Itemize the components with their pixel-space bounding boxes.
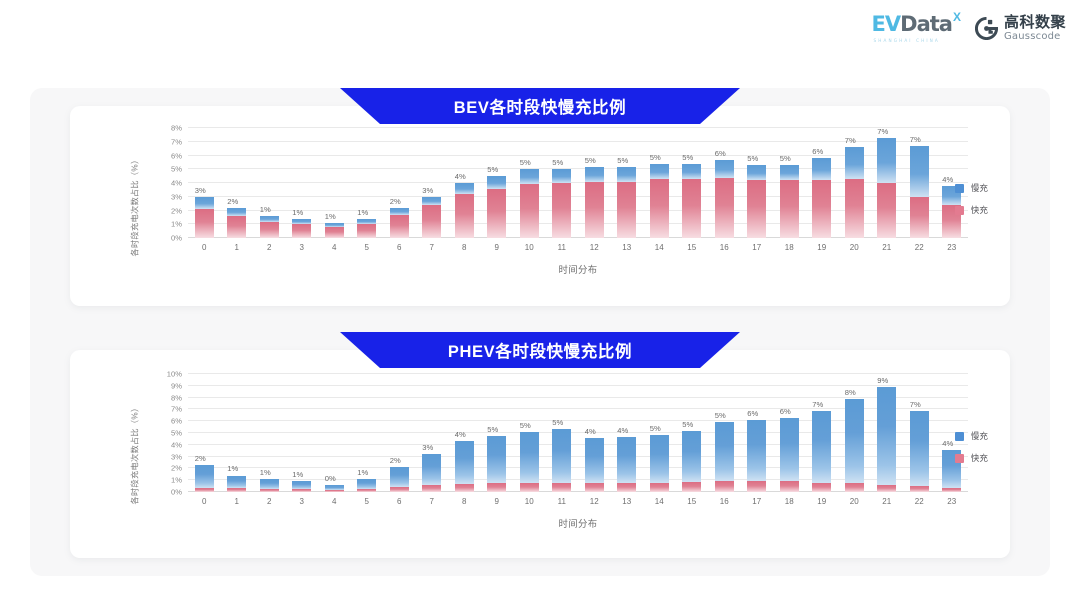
phev-bar-value-label: 7% [910, 400, 921, 409]
phev-y-tick-label: 1% [171, 476, 182, 485]
bev-x-tick-label: 21 [882, 243, 891, 252]
bev-bar-segment-slow[interactable] [617, 167, 636, 182]
bev-stacked-bar[interactable]: 3% [195, 197, 214, 238]
gausscode-logo: 高科数聚 Gausscode [975, 15, 1066, 42]
bev-legend-item[interactable]: 快充 [955, 204, 988, 216]
phev-bar-segment-fast[interactable] [487, 483, 506, 492]
bev-stacked-bar[interactable]: 5% [520, 169, 539, 238]
bev-bar-slot[interactable]: 7%20 [838, 128, 871, 238]
phev-bar-value-label: 8% [845, 388, 856, 397]
phev-bar-value-label: 5% [715, 411, 726, 420]
bev-bar-slot[interactable]: 1%4 [318, 128, 351, 238]
phev-legend-label: 慢充 [971, 430, 988, 442]
phev-bar-value-label: 2% [195, 454, 206, 463]
bev-bar-value-label: 6% [715, 149, 726, 158]
phev-plot-area: 0%1%2%3%4%5%6%7%8%9%10%2%01%11%21%30%41%… [188, 374, 968, 492]
bev-bar-segment-fast[interactable] [292, 224, 311, 238]
phev-chart-section: PHEV各时段快慢充比例 各时段充电次数占比（%） 0%1%2%3%4%5%6%… [30, 332, 1050, 576]
bev-bar-value-label: 6% [812, 147, 823, 156]
evdata-subtitle: SHANGHAI CHINA [874, 38, 940, 43]
bev-x-tick-label: 12 [590, 243, 599, 252]
phev-stacked-bar[interactable]: 6% [747, 420, 766, 492]
bev-bar-slot[interactable]: 5%17 [741, 128, 774, 238]
bev-bar-segment-fast[interactable] [357, 224, 376, 238]
bev-bar-segment-slow[interactable] [390, 208, 409, 215]
bev-bar-slot[interactable]: 5%12 [578, 128, 611, 238]
phev-bar-value-label: 1% [227, 464, 238, 473]
bev-bar-segment-slow[interactable] [682, 164, 701, 179]
bev-bar-slot[interactable]: 3%7 [416, 128, 449, 238]
bev-bar-slot[interactable]: 5%9 [481, 128, 514, 238]
bev-legend-swatch [955, 206, 964, 215]
phev-bar-segment-fast[interactable] [942, 488, 961, 492]
phev-bar-slot[interactable]: 5%9 [481, 374, 514, 492]
phev-bar-segment-fast[interactable] [585, 483, 604, 492]
phev-bar-value-label: 4% [455, 430, 466, 439]
bev-bar-slot[interactable]: 4%8 [448, 128, 481, 238]
bev-bar-slot[interactable]: 5%10 [513, 128, 546, 238]
bev-y-tick-label: 1% [171, 220, 182, 229]
bev-bar-segment-fast[interactable] [715, 178, 734, 239]
phev-bar-segment-slow[interactable] [845, 399, 864, 483]
bev-x-tick-label: 14 [655, 243, 664, 252]
bev-stacked-bar[interactable]: 5% [682, 164, 701, 238]
bev-bar-segment-fast[interactable] [422, 205, 441, 238]
phev-stacked-bar[interactable]: 6% [780, 418, 799, 492]
phev-bar-segment-fast[interactable] [292, 489, 311, 492]
bev-bar-slot[interactable]: 1%3 [286, 128, 319, 238]
phev-bar-segment-slow[interactable] [552, 429, 571, 482]
phev-x-tick-label: 4 [332, 497, 336, 506]
phev-bar-segment-slow[interactable] [292, 481, 311, 489]
phev-bar-segment-slow[interactable] [487, 436, 506, 483]
bev-x-axis-title: 时间分布 [188, 262, 968, 276]
phev-bar-segment-fast[interactable] [357, 489, 376, 492]
phev-y-tick-label: 2% [171, 464, 182, 473]
bev-x-tick-label: 10 [525, 243, 534, 252]
bev-x-tick-label: 18 [785, 243, 794, 252]
bev-stacked-bar[interactable]: 7% [910, 146, 929, 238]
bev-x-tick-label: 22 [915, 243, 924, 252]
bev-bar-segment-slow[interactable] [227, 208, 246, 216]
bev-bar-slot[interactable]: 3%0 [188, 128, 221, 238]
bev-bar-segment-slow[interactable] [877, 138, 896, 183]
phev-stacked-bar[interactable]: 5% [650, 435, 669, 492]
logo-bar: EVData X SHANGHAI CHINA 高科数聚 Gausscode [872, 14, 1066, 43]
phev-bar-segment-slow[interactable] [455, 441, 474, 483]
phev-x-tick-label: 17 [752, 497, 761, 506]
bev-bar-slot[interactable]: 2%6 [383, 128, 416, 238]
bev-x-tick-label: 23 [947, 243, 956, 252]
bev-bar-segment-slow[interactable] [487, 176, 506, 188]
phev-bar-segment-fast[interactable] [195, 488, 214, 492]
bev-stacked-bar[interactable]: 7% [877, 138, 896, 238]
bev-stacked-bar[interactable]: 2% [390, 208, 409, 238]
phev-bar-segment-slow[interactable] [227, 476, 246, 489]
bev-bar-value-label: 2% [227, 197, 238, 206]
charts-outer-panel: BEV各时段快慢充比例 各时段充电次数占比（%） 0%1%2%3%4%5%6%7… [30, 88, 1050, 576]
phev-bar-slot[interactable]: 4%13 [611, 374, 644, 492]
phev-x-tick-label: 12 [590, 497, 599, 506]
bev-bar-slot[interactable]: 7%22 [903, 128, 936, 238]
phev-bar-segment-fast[interactable] [910, 486, 929, 492]
evdata-superscript-x: X [953, 11, 961, 23]
bev-bar-slot[interactable]: 6%19 [806, 128, 839, 238]
bev-chart: 各时段充电次数占比（%） 0%1%2%3%4%5%6%7%8%3%02%11%2… [70, 106, 1010, 306]
bev-bar-value-label: 1% [325, 212, 336, 221]
bev-stacked-bar[interactable]: 1% [260, 216, 279, 238]
bev-legend: 慢充快充 [955, 182, 988, 216]
bev-bar-segment-fast[interactable] [227, 216, 246, 238]
bev-stacked-bar[interactable]: 5% [747, 165, 766, 238]
phev-stacked-bar[interactable]: 4% [455, 441, 474, 492]
bev-stacked-bar[interactable]: 5% [487, 176, 506, 238]
bev-bar-segment-slow[interactable] [195, 197, 214, 209]
phev-bar-slot[interactable]: 1%2 [253, 374, 286, 492]
bev-bar-slot[interactable]: 7%21 [871, 128, 904, 238]
phev-bar-slot[interactable]: 6%17 [741, 374, 774, 492]
bev-x-tick-label: 0 [202, 243, 206, 252]
phev-bar-value-label: 4% [942, 439, 953, 448]
phev-bar-segment-fast[interactable] [682, 482, 701, 492]
bev-bar-value-label: 7% [910, 135, 921, 144]
phev-stacked-bar[interactable]: 1% [357, 479, 376, 492]
bev-bar-segment-fast[interactable] [877, 183, 896, 238]
bev-legend-swatch [955, 184, 964, 193]
phev-stacked-bar[interactable]: 1% [292, 481, 311, 492]
bev-bar-segment-slow[interactable] [552, 169, 571, 183]
phev-bar-slot[interactable]: 4%12 [578, 374, 611, 492]
bev-bar-segment-fast[interactable] [260, 222, 279, 239]
bev-stacked-bar[interactable]: 3% [422, 197, 441, 238]
phev-bar-segment-slow[interactable] [877, 387, 896, 485]
evdata-logo: EVData X SHANGHAI CHINA [872, 14, 961, 43]
bev-bar-segment-fast[interactable] [910, 197, 929, 238]
phev-bar-slot[interactable]: 8%20 [838, 374, 871, 492]
phev-bar-segment-fast[interactable] [325, 490, 344, 492]
bev-stacked-bar[interactable]: 1% [325, 223, 344, 238]
phev-y-tick-label: 10% [167, 370, 182, 379]
bev-x-tick-label: 15 [687, 243, 696, 252]
bev-stacked-bar[interactable]: 5% [617, 167, 636, 239]
phev-bar-segment-fast[interactable] [650, 483, 669, 492]
bev-bar-value-label: 5% [552, 158, 563, 167]
phev-bar-segment-slow[interactable] [390, 467, 409, 487]
phev-bar-slot[interactable]: 3%7 [416, 374, 449, 492]
bev-stacked-bar[interactable]: 5% [552, 169, 571, 238]
phev-stacked-bar[interactable]: 7% [910, 411, 929, 492]
phev-bar-segment-fast[interactable] [877, 485, 896, 492]
phev-bar-value-label: 5% [487, 425, 498, 434]
phev-bar-segment-slow[interactable] [617, 437, 636, 483]
bev-bar-segment-fast[interactable] [455, 194, 474, 238]
bev-bar-slot[interactable]: 5%15 [676, 128, 709, 238]
phev-bar-slot[interactable]: 6%18 [773, 374, 806, 492]
bev-stacked-bar[interactable]: 5% [780, 165, 799, 238]
phev-bar-segment-fast[interactable] [747, 481, 766, 492]
phev-bar-slot[interactable]: 5%14 [643, 374, 676, 492]
phev-bar-segment-slow[interactable] [260, 479, 279, 489]
phev-stacked-bar[interactable]: 1% [227, 475, 246, 492]
phev-bar-segment-slow[interactable] [585, 438, 604, 483]
phev-stacked-bar[interactable]: 1% [260, 479, 279, 492]
bev-bar-segment-fast[interactable] [552, 183, 571, 238]
bev-plot-area: 0%1%2%3%4%5%6%7%8%3%02%11%21%31%41%52%63… [188, 128, 968, 238]
phev-x-tick-label: 11 [558, 497, 566, 506]
bev-bar-value-label: 5% [585, 156, 596, 165]
bev-bar-segment-fast[interactable] [780, 180, 799, 238]
phev-bar-slot[interactable]: 4%8 [448, 374, 481, 492]
phev-x-tick-label: 1 [235, 497, 239, 506]
phev-bar-slot[interactable]: 9%21 [871, 374, 904, 492]
phev-stacked-bar[interactable]: 5% [520, 432, 539, 492]
phev-bar-segment-slow[interactable] [520, 432, 539, 483]
bev-bar-value-label: 1% [292, 208, 303, 217]
bev-x-tick-label: 20 [850, 243, 859, 252]
bev-bar-value-label: 7% [877, 127, 888, 136]
bev-bar-segment-fast[interactable] [845, 179, 864, 238]
phev-bar-segment-slow[interactable] [715, 422, 734, 481]
bev-bar-value-label: 5% [487, 165, 498, 174]
bev-bar-value-label: 3% [195, 186, 206, 195]
bev-bar-segment-slow[interactable] [650, 164, 669, 179]
bev-chart-title-banner: BEV各时段快慢充比例 [340, 88, 740, 124]
bev-bar-slot[interactable]: 5%14 [643, 128, 676, 238]
phev-bar-segment-fast[interactable] [845, 483, 864, 492]
phev-bar-segment-fast[interactable] [390, 487, 409, 492]
bev-x-tick-label: 13 [622, 243, 631, 252]
bev-y-tick-label: 8% [171, 124, 182, 133]
bev-x-tick-label: 6 [397, 243, 401, 252]
evdata-data-text: Data [900, 12, 952, 36]
phev-bar-value-label: 1% [260, 468, 271, 477]
phev-bar-slot[interactable]: 1%5 [351, 374, 384, 492]
phev-bar-segment-fast[interactable] [260, 489, 279, 492]
bev-y-tick-label: 6% [171, 151, 182, 160]
phev-x-tick-label: 2 [267, 497, 271, 506]
bev-bar-slot[interactable]: 1%2 [253, 128, 286, 238]
bev-chart-card: 各时段充电次数占比（%） 0%1%2%3%4%5%6%7%8%3%02%11%2… [70, 106, 1010, 306]
bev-bar-segment-fast[interactable] [195, 209, 214, 238]
bev-bar-value-label: 7% [845, 136, 856, 145]
phev-chart: 各时段充电次数占比（%） 0%1%2%3%4%5%6%7%8%9%10%2%01… [70, 350, 1010, 558]
phev-bar-value-label: 1% [357, 468, 368, 477]
phev-stacked-bar[interactable]: 8% [845, 399, 864, 492]
bev-stacked-bar[interactable]: 6% [812, 158, 831, 238]
phev-bar-segment-slow[interactable] [682, 431, 701, 482]
bev-bar-segment-fast[interactable] [682, 179, 701, 238]
bev-x-tick-label: 9 [495, 243, 499, 252]
phev-chart-card: 各时段充电次数占比（%） 0%1%2%3%4%5%6%7%8%9%10%2%01… [70, 350, 1010, 558]
bev-bar-value-label: 3% [422, 186, 433, 195]
phev-stacked-bar[interactable]: 2% [390, 467, 409, 492]
bev-bar-segment-slow[interactable] [520, 169, 539, 184]
bev-bar-segment-slow[interactable] [812, 158, 831, 180]
phev-x-tick-label: 19 [817, 497, 826, 506]
bev-y-tick-label: 3% [171, 192, 182, 201]
phev-bar-segment-slow[interactable] [780, 418, 799, 482]
phev-bar-slot[interactable]: 1%3 [286, 374, 319, 492]
phev-bar-segment-fast[interactable] [780, 481, 799, 492]
phev-bar-segment-slow[interactable] [357, 479, 376, 489]
bev-bar-segment-fast[interactable] [747, 180, 766, 238]
phev-stacked-bar[interactable]: 5% [715, 422, 734, 492]
bev-bar-value-label: 4% [455, 172, 466, 181]
bev-x-tick-label: 1 [235, 243, 239, 252]
bev-bar-value-label: 5% [682, 153, 693, 162]
bev-bar-value-label: 5% [617, 156, 628, 165]
phev-bar-segment-fast[interactable] [520, 483, 539, 492]
phev-stacked-bar[interactable]: 5% [682, 431, 701, 492]
bev-chart-section: BEV各时段快慢充比例 各时段充电次数占比（%） 0%1%2%3%4%5%6%7… [30, 88, 1050, 318]
phev-stacked-bar[interactable]: 7% [812, 411, 831, 492]
bev-bar-value-label: 2% [390, 197, 401, 206]
phev-bar-segment-fast[interactable] [552, 483, 571, 492]
bev-stacked-bar[interactable]: 1% [357, 219, 376, 238]
phev-x-tick-label: 9 [495, 497, 499, 506]
phev-bar-segment-slow[interactable] [747, 420, 766, 481]
phev-bar-slot[interactable]: 1%1 [221, 374, 254, 492]
phev-bar-segment-fast[interactable] [422, 485, 441, 492]
bev-bar-segment-fast[interactable] [325, 227, 344, 238]
bev-bar-segment-slow[interactable] [715, 160, 734, 178]
phev-y-tick-label: 6% [171, 417, 182, 426]
phev-bar-slot[interactable]: 7%19 [806, 374, 839, 492]
bev-stacked-bar[interactable]: 6% [715, 160, 734, 238]
phev-bar-segment-slow[interactable] [910, 411, 929, 487]
bev-bar-segment-fast[interactable] [650, 179, 669, 238]
bev-stacked-bar[interactable]: 5% [585, 167, 604, 239]
bev-bar-segment-slow[interactable] [910, 146, 929, 197]
bev-bar-slot[interactable]: 6%16 [708, 128, 741, 238]
phev-bar-segment-fast[interactable] [617, 483, 636, 492]
phev-bar-slot[interactable]: 5%10 [513, 374, 546, 492]
bev-bar-value-label: 5% [780, 154, 791, 163]
bev-bar-segment-slow[interactable] [422, 197, 441, 205]
phev-x-tick-label: 7 [430, 497, 434, 506]
phev-y-tick-label: 4% [171, 440, 182, 449]
phev-stacked-bar[interactable]: 3% [422, 454, 441, 492]
phev-stacked-bar[interactable]: 0% [325, 485, 344, 492]
bev-x-tick-label: 5 [365, 243, 369, 252]
bev-bar-slot[interactable]: 2%1 [221, 128, 254, 238]
phev-bar-segment-fast[interactable] [812, 483, 831, 492]
phev-bar-value-label: 5% [520, 421, 531, 430]
bev-bar-segment-slow[interactable] [747, 165, 766, 180]
bev-bar-segment-slow[interactable] [455, 183, 474, 194]
phev-legend-item[interactable]: 快充 [955, 452, 988, 464]
bev-x-tick-label: 16 [720, 243, 729, 252]
phev-stacked-bar[interactable]: 5% [552, 429, 571, 492]
phev-bar-slot[interactable]: 5%16 [708, 374, 741, 492]
bev-bar-segment-slow[interactable] [845, 147, 864, 179]
bev-bar-segment-fast[interactable] [520, 184, 539, 238]
phev-bar-slot[interactable]: 5%15 [676, 374, 709, 492]
phev-bar-segment-fast[interactable] [455, 484, 474, 492]
phev-stacked-bar[interactable]: 5% [487, 436, 506, 492]
phev-bar-slot[interactable]: 0%4 [318, 374, 351, 492]
bev-bar-segment-fast[interactable] [585, 182, 604, 238]
bev-bar-segment-slow[interactable] [780, 165, 799, 180]
evdata-ev-text: EV [872, 12, 901, 36]
phev-bar-segment-slow[interactable] [195, 465, 214, 488]
bev-y-tick-label: 7% [171, 137, 182, 146]
bev-x-tick-label: 11 [558, 243, 566, 252]
bev-bar-slot[interactable]: 5%18 [773, 128, 806, 238]
bev-bar-slot[interactable]: 5%11 [546, 128, 579, 238]
phev-y-tick-label: 5% [171, 429, 182, 438]
phev-stacked-bar[interactable]: 4% [585, 438, 604, 492]
bev-x-tick-label: 2 [267, 243, 271, 252]
bev-stacked-bar[interactable]: 7% [845, 147, 864, 238]
bev-y-tick-label: 4% [171, 179, 182, 188]
bev-x-tick-label: 8 [462, 243, 466, 252]
phev-bar-segment-fast[interactable] [227, 488, 246, 492]
bev-stacked-bar[interactable]: 2% [227, 208, 246, 238]
bev-y-tick-label: 5% [171, 165, 182, 174]
bev-bar-segment-fast[interactable] [390, 215, 409, 238]
bev-x-tick-label: 4 [332, 243, 336, 252]
bev-legend-label: 慢充 [971, 182, 988, 194]
evdata-wordmark: EVData [872, 14, 952, 35]
phev-legend: 慢充快充 [955, 430, 988, 464]
bev-stacked-bar[interactable]: 1% [292, 219, 311, 238]
phev-y-tick-label: 3% [171, 452, 182, 461]
phev-bar-segment-slow[interactable] [422, 454, 441, 485]
phev-x-tick-label: 15 [687, 497, 696, 506]
phev-legend-label: 快充 [971, 452, 988, 464]
phev-bar-segment-slow[interactable] [812, 411, 831, 483]
phev-stacked-bar[interactable]: 9% [877, 387, 896, 492]
phev-x-tick-label: 3 [300, 497, 304, 506]
gausscode-cn-name: 高科数聚 [1004, 15, 1066, 30]
bev-bar-slot[interactable]: 1%5 [351, 128, 384, 238]
bev-bar-segment-fast[interactable] [617, 182, 636, 238]
bev-bar-value-label: 4% [942, 175, 953, 184]
phev-bar-slot[interactable]: 2%6 [383, 374, 416, 492]
phev-y-tick-label: 0% [171, 488, 182, 497]
phev-legend-item[interactable]: 慢充 [955, 430, 988, 442]
phev-x-tick-label: 21 [882, 497, 891, 506]
phev-bar-slot[interactable]: 7%22 [903, 374, 936, 492]
bev-stacked-bar[interactable]: 5% [650, 164, 669, 238]
phev-y-tick-label: 9% [171, 381, 182, 390]
bev-bar-slot[interactable]: 5%13 [611, 128, 644, 238]
bev-bar-segment-fast[interactable] [487, 189, 506, 239]
bev-bar-segment-fast[interactable] [812, 180, 831, 238]
bev-bar-value-label: 1% [260, 205, 271, 214]
phev-bar-value-label: 5% [650, 424, 661, 433]
bev-bar-value-label: 5% [650, 153, 661, 162]
phev-bar-value-label: 5% [682, 420, 693, 429]
bev-stacked-bar[interactable]: 4% [455, 183, 474, 238]
bev-legend-item[interactable]: 慢充 [955, 182, 988, 194]
phev-y-tick-label: 8% [171, 393, 182, 402]
phev-x-tick-label: 6 [397, 497, 401, 506]
gausscode-mark-icon [975, 17, 998, 40]
phev-bar-segment-slow[interactable] [650, 435, 669, 482]
phev-stacked-bar[interactable]: 2% [195, 465, 214, 492]
phev-x-tick-label: 22 [915, 497, 924, 506]
bev-x-tick-label: 17 [752, 243, 761, 252]
phev-bar-value-label: 7% [812, 400, 823, 409]
phev-bar-segment-fast[interactable] [715, 481, 734, 492]
phev-bar-slot[interactable]: 2%0 [188, 374, 221, 492]
bev-bar-segment-slow[interactable] [585, 167, 604, 182]
phev-bar-slot[interactable]: 5%11 [546, 374, 579, 492]
bev-bar-value-label: 5% [520, 158, 531, 167]
phev-stacked-bar[interactable]: 4% [617, 437, 636, 492]
